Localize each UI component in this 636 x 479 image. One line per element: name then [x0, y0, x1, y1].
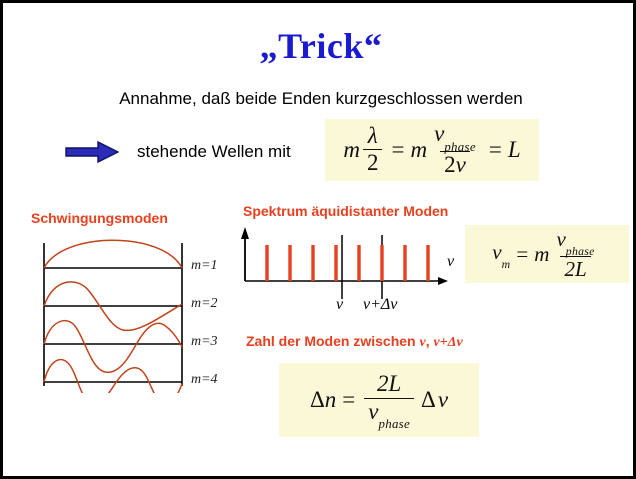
assumption-text: Annahme, daß beide Enden kurzgeschlossen…	[3, 89, 636, 109]
fraction-lambda-over-two: λ 2	[363, 124, 383, 176]
symbol-delta-n: Δn	[310, 387, 336, 413]
denominator-vphase: vphase	[364, 398, 414, 428]
heading-count-sym-2: ν+Δν	[433, 335, 462, 350]
formula-wavelength-condition: m λ 2 = m vphase 2ν = L	[325, 119, 539, 181]
marker-label-nu: ν	[336, 296, 343, 314]
symbol-m-1: m	[343, 137, 360, 163]
equals-sign: =	[342, 387, 355, 413]
wave-mode-4	[44, 360, 182, 393]
equals-sign-1: =	[391, 137, 404, 163]
denominator-v: v	[368, 399, 378, 424]
standing-waves-label: stehende Wellen mit	[137, 142, 291, 162]
equals-sign-2: =	[489, 137, 502, 163]
right-arrow-icon	[65, 141, 119, 163]
spectrum-diagram	[235, 223, 455, 318]
standing-waves-row: stehende Wellen mit	[65, 141, 291, 163]
equation-wavelength-condition: m λ 2 = m vphase 2ν = L	[343, 122, 520, 178]
symbol-delta: Δ	[310, 387, 325, 412]
denominator-two: 2	[444, 152, 456, 177]
slide-canvas: „Trick“ Annahme, daß beide Enden kurzges…	[0, 0, 636, 479]
numerator-subscript-phase: phase	[444, 140, 476, 154]
y-axis-arrowhead	[241, 227, 249, 239]
heading-zahl-der-moden: Zahl der Moden zwischen ν, ν+Δν	[246, 333, 463, 351]
symbol-m-2: m	[410, 137, 427, 163]
mode-label-4: m=4	[191, 372, 218, 388]
numerator-vphase: vphase	[552, 228, 598, 256]
equation-mode-frequency: νm = m vphase 2L	[492, 228, 601, 280]
denominator-subscript-phase: phase	[378, 417, 410, 431]
numerator-v: v	[556, 227, 565, 251]
numerator-subscript-phase: phase	[566, 245, 595, 258]
spectrum-svg	[235, 223, 455, 313]
mode-label-2: m=2	[191, 296, 218, 312]
numerator-lambda: λ	[364, 124, 382, 149]
heading-count-prefix: Zahl der Moden zwischen	[246, 333, 419, 349]
equals-sign: =	[516, 242, 528, 267]
marker-label-nu-plus-delta-nu: ν+Δν	[363, 296, 397, 314]
wave-mode-1	[44, 240, 182, 268]
mode-label-3: m=3	[191, 334, 218, 350]
denominator-two-L: 2L	[560, 256, 590, 280]
subscript-m: m	[502, 258, 511, 271]
numerator-two-L: 2L	[373, 372, 405, 397]
heading-schwingungsmoden: Schwingungsmoden	[31, 210, 168, 226]
equation-mode-count: Δn = 2L vphase Δν	[310, 372, 448, 428]
denominator-two: 2	[363, 149, 383, 175]
fraction-two-L-over-vphase: 2L vphase	[364, 372, 414, 428]
fraction-vphase-over-two-nu: vphase 2ν	[430, 122, 480, 178]
formula-mode-frequency: νm = m vphase 2L	[465, 225, 629, 283]
symbol-delta-nu: Δν	[421, 387, 448, 413]
modes-svg	[33, 231, 233, 393]
denominator-two-nu: 2ν	[440, 151, 470, 177]
mode-label-1: m=1	[191, 258, 218, 274]
symbol-nu-2: ν	[438, 387, 448, 412]
wave-mode-3	[44, 321, 182, 373]
axis-label-nu: ν	[447, 253, 454, 271]
symbol-nu-m: νm	[492, 240, 510, 267]
symbol-n: n	[325, 387, 337, 412]
heading-spektrum: Spektrum äquidistanter Moden	[243, 203, 448, 219]
symbol-nu: ν	[492, 240, 501, 264]
fraction-vphase-over-two-L: vphase 2L	[552, 228, 598, 280]
page-title: „Trick“	[3, 25, 636, 67]
x-axis-arrowhead	[438, 277, 448, 285]
numerator-v: v	[434, 121, 444, 146]
symbol-delta-2: Δ	[421, 387, 436, 412]
denominator-nu: ν	[456, 152, 466, 177]
formula-mode-count: Δn = 2L vphase Δν	[279, 363, 479, 437]
numerator-vphase: vphase	[430, 122, 480, 151]
symbol-L: L	[508, 137, 521, 163]
symbol-m: m	[534, 242, 549, 267]
